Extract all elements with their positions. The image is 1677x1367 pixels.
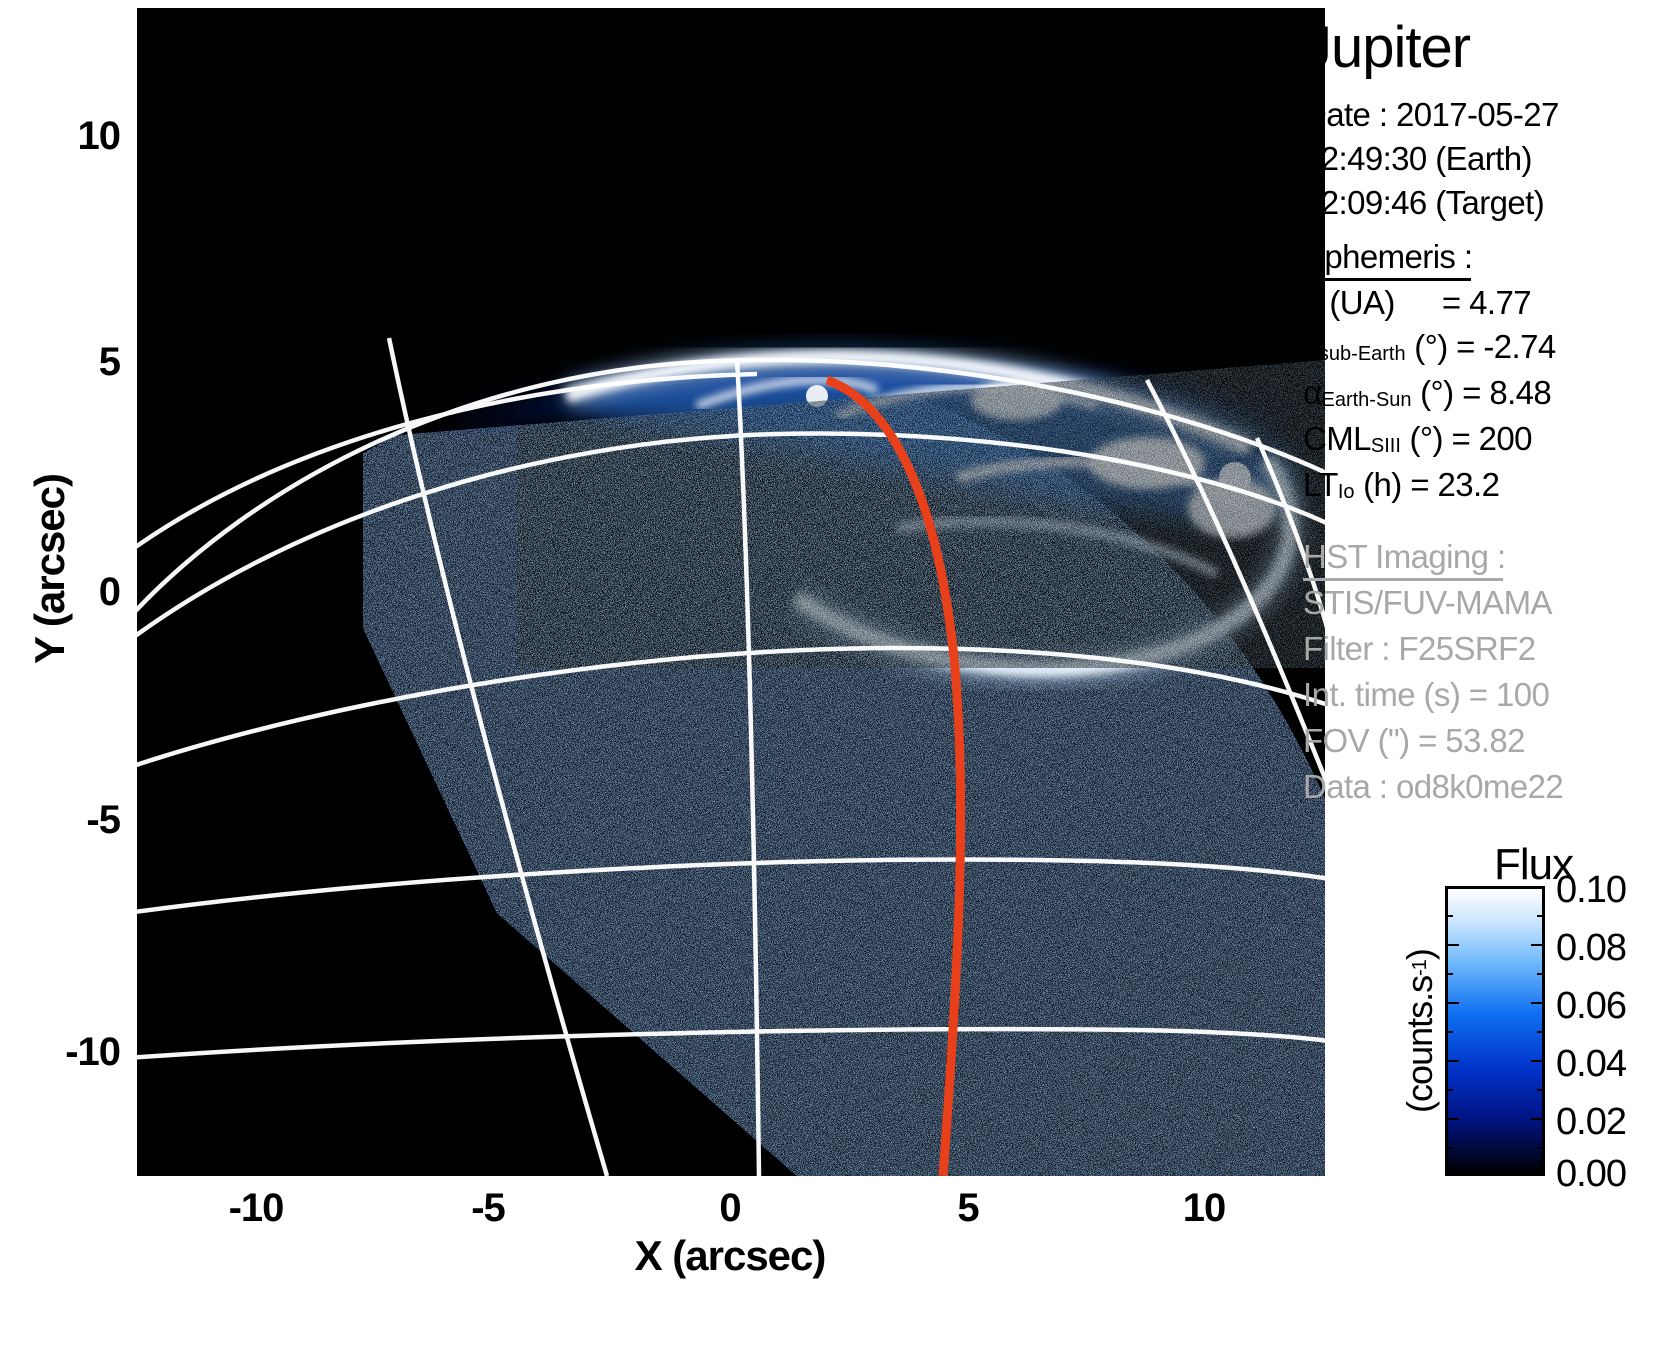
ephemeris-heading: Ephemeris : [1303,240,1472,273]
ephemeris-distance-value: = 4.77 [1442,284,1531,321]
ephemeris-heading-rule [1303,278,1471,281]
ephemeris-alpha-earth-sun: αEarth-Sun (°) = 8.48 [1303,376,1551,410]
lambda-value: = -2.74 [1456,328,1555,365]
alpha-subscript: Earth-Sun [1321,389,1411,411]
colorbar-tick-label: 0.08 [1556,929,1626,967]
ephemeris-cml: CMLSIII (°) = 200 [1303,422,1532,456]
colorbar-unit-close: ) [1399,949,1440,960]
y-tick-label: -5 [0,800,120,840]
x-axis-title: X (arcsec) [520,1232,940,1280]
colorbar-tick-label: 0.10 [1556,871,1626,909]
hst-data-id: Data : od8k0me22 [1303,770,1563,803]
cml-value: = 200 [1451,420,1532,457]
lt-unit: (h) [1363,466,1402,503]
y-tick-label: 5 [0,342,120,382]
y-tick-label: 10 [0,116,120,156]
x-tick-label: 10 [1134,1186,1274,1231]
colorbar-tick-label: 0.04 [1556,1045,1626,1083]
observation-time-target: 02:09:46 (Target) [1303,186,1544,219]
x-tick-label: 5 [898,1186,1038,1231]
colorbar-tick-label: 0.00 [1556,1155,1626,1193]
target-title: Jupiter [1303,14,1470,81]
colorbar-tick-label: 0.06 [1556,987,1626,1025]
hst-filter: Filter : F25SRF2 [1303,632,1535,665]
x-tick-label: -5 [418,1186,558,1231]
observation-time-earth: 02:49:30 (Earth) [1303,142,1532,175]
x-tick-label: 0 [660,1186,800,1231]
hst-fov: FOV (") = 53.82 [1303,724,1525,757]
observation-date: Date : 2017-05-27 [1303,98,1559,131]
colorbar-ticks [1445,886,1545,1176]
plot-canvas [137,8,1325,1176]
colorbar-unit-text: (counts.s [1399,976,1440,1113]
lambda-subscript: sub-Earth [1319,343,1406,365]
ephemeris-distance-label: d (UA) [1303,284,1395,321]
ephemeris-lambda-sub-earth: λsub-Earth (°) = -2.74 [1303,330,1556,364]
lt-symbol: LT [1303,466,1338,503]
y-tick-label: -10 [0,1032,120,1072]
colorbar-unit-exponent: -1 [1409,960,1431,976]
lt-subscript: Io [1338,481,1355,503]
hst-imaging-heading-rule [1303,578,1503,581]
hst-instrument: STIS/FUV-MAMA [1303,586,1552,619]
lambda-symbol: λ [1303,328,1319,365]
colorbar-tick-label: 0.02 [1556,1103,1626,1141]
alpha-value: = 8.48 [1462,374,1551,411]
lt-value: = 23.2 [1410,466,1499,503]
hst-imaging-heading: HST Imaging : [1303,540,1506,573]
ephemeris-lt-io: LTIo (h) = 23.2 [1303,468,1499,502]
hst-int-time: Int. time (s) = 100 [1303,678,1549,711]
alpha-symbol: α [1303,374,1321,411]
alpha-unit: (°) [1420,374,1453,411]
ephemeris-distance: d (UA) = 4.77 [1303,286,1531,319]
aurora-image-plot [137,8,1325,1176]
cml-unit: (°) [1409,420,1442,457]
lambda-unit: (°) [1414,328,1447,365]
colorbar-unit-label: (counts.s-1) [1399,901,1441,1161]
y-axis-title: Y (arcsec) [26,409,74,729]
x-tick-label: -10 [186,1186,326,1231]
cml-subscript: SIII [1371,435,1401,457]
cml-symbol: CML [1303,420,1371,457]
